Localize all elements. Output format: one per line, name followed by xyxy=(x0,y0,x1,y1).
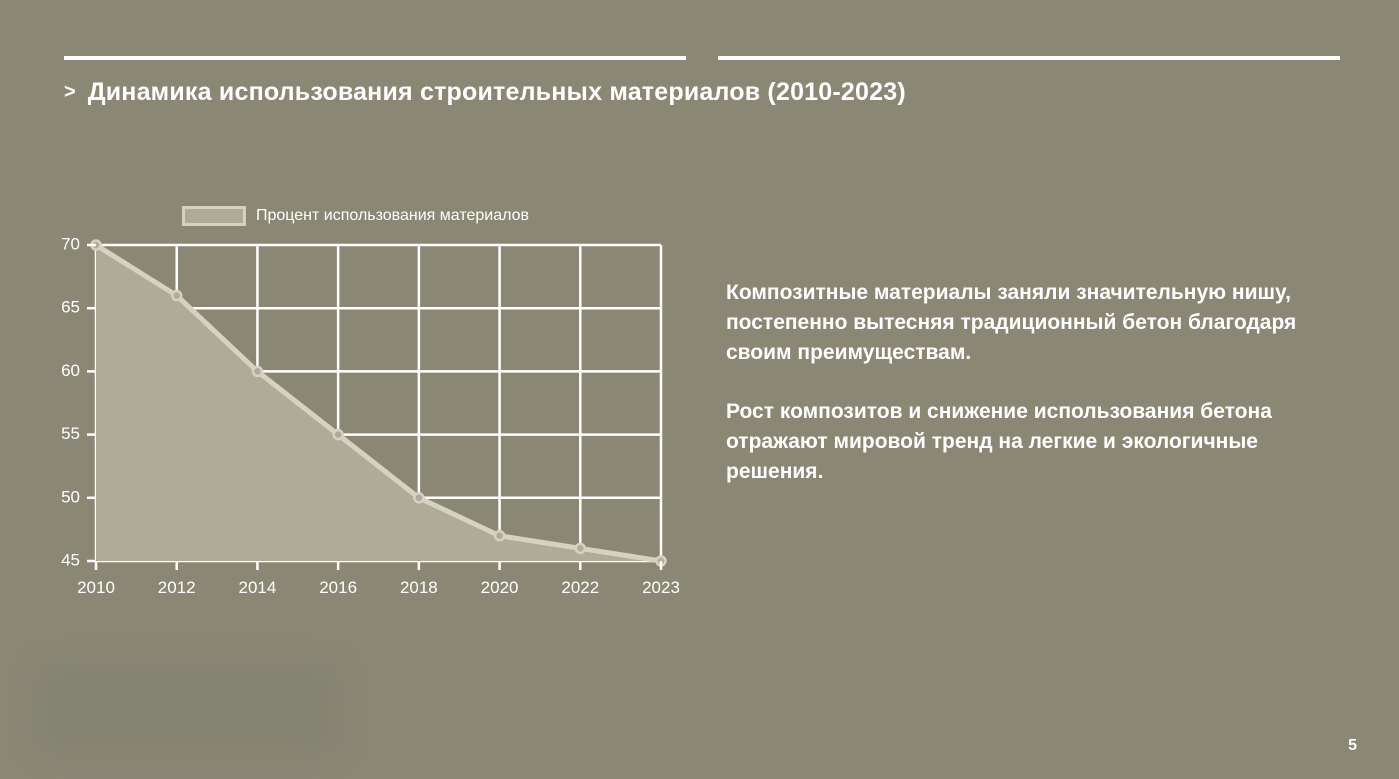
svg-text:55: 55 xyxy=(61,424,80,443)
svg-text:2018: 2018 xyxy=(400,578,438,597)
svg-text:2010: 2010 xyxy=(77,578,115,597)
svg-text:2016: 2016 xyxy=(319,578,357,597)
svg-text:2012: 2012 xyxy=(158,578,196,597)
chart-x-axis: 20102012201420162018202020222023 xyxy=(77,561,680,597)
chart-y-axis: 455055606570 xyxy=(61,234,96,569)
paragraph-2: Рост композитов и снижение использования… xyxy=(726,397,1326,486)
svg-text:2023: 2023 xyxy=(642,578,680,597)
svg-text:60: 60 xyxy=(61,361,80,380)
svg-text:2014: 2014 xyxy=(239,578,277,597)
paragraph-1: Композитные материалы заняли значительну… xyxy=(726,278,1326,367)
page-number: 5 xyxy=(1348,737,1357,755)
chevron-right-icon: > xyxy=(64,82,76,102)
svg-text:50: 50 xyxy=(61,487,80,506)
page-title: Динамика использования строительных мате… xyxy=(88,78,906,107)
svg-text:2020: 2020 xyxy=(481,578,519,597)
svg-text:45: 45 xyxy=(61,550,80,569)
slide-heading: > Динамика использования строительных ма… xyxy=(64,78,906,107)
body-text-column: Композитные материалы заняли значительну… xyxy=(726,278,1326,487)
svg-text:2022: 2022 xyxy=(561,578,599,597)
svg-text:70: 70 xyxy=(61,234,80,253)
line-area-chart: Процент использования материалов 4550556… xyxy=(40,200,700,610)
header-rule-right xyxy=(718,56,1340,60)
header-rule-left xyxy=(64,56,686,60)
svg-text:65: 65 xyxy=(61,298,80,317)
chart-plot-area: 455055606570 201020122014201620182020202… xyxy=(40,200,700,610)
background-watermark xyxy=(38,668,338,752)
